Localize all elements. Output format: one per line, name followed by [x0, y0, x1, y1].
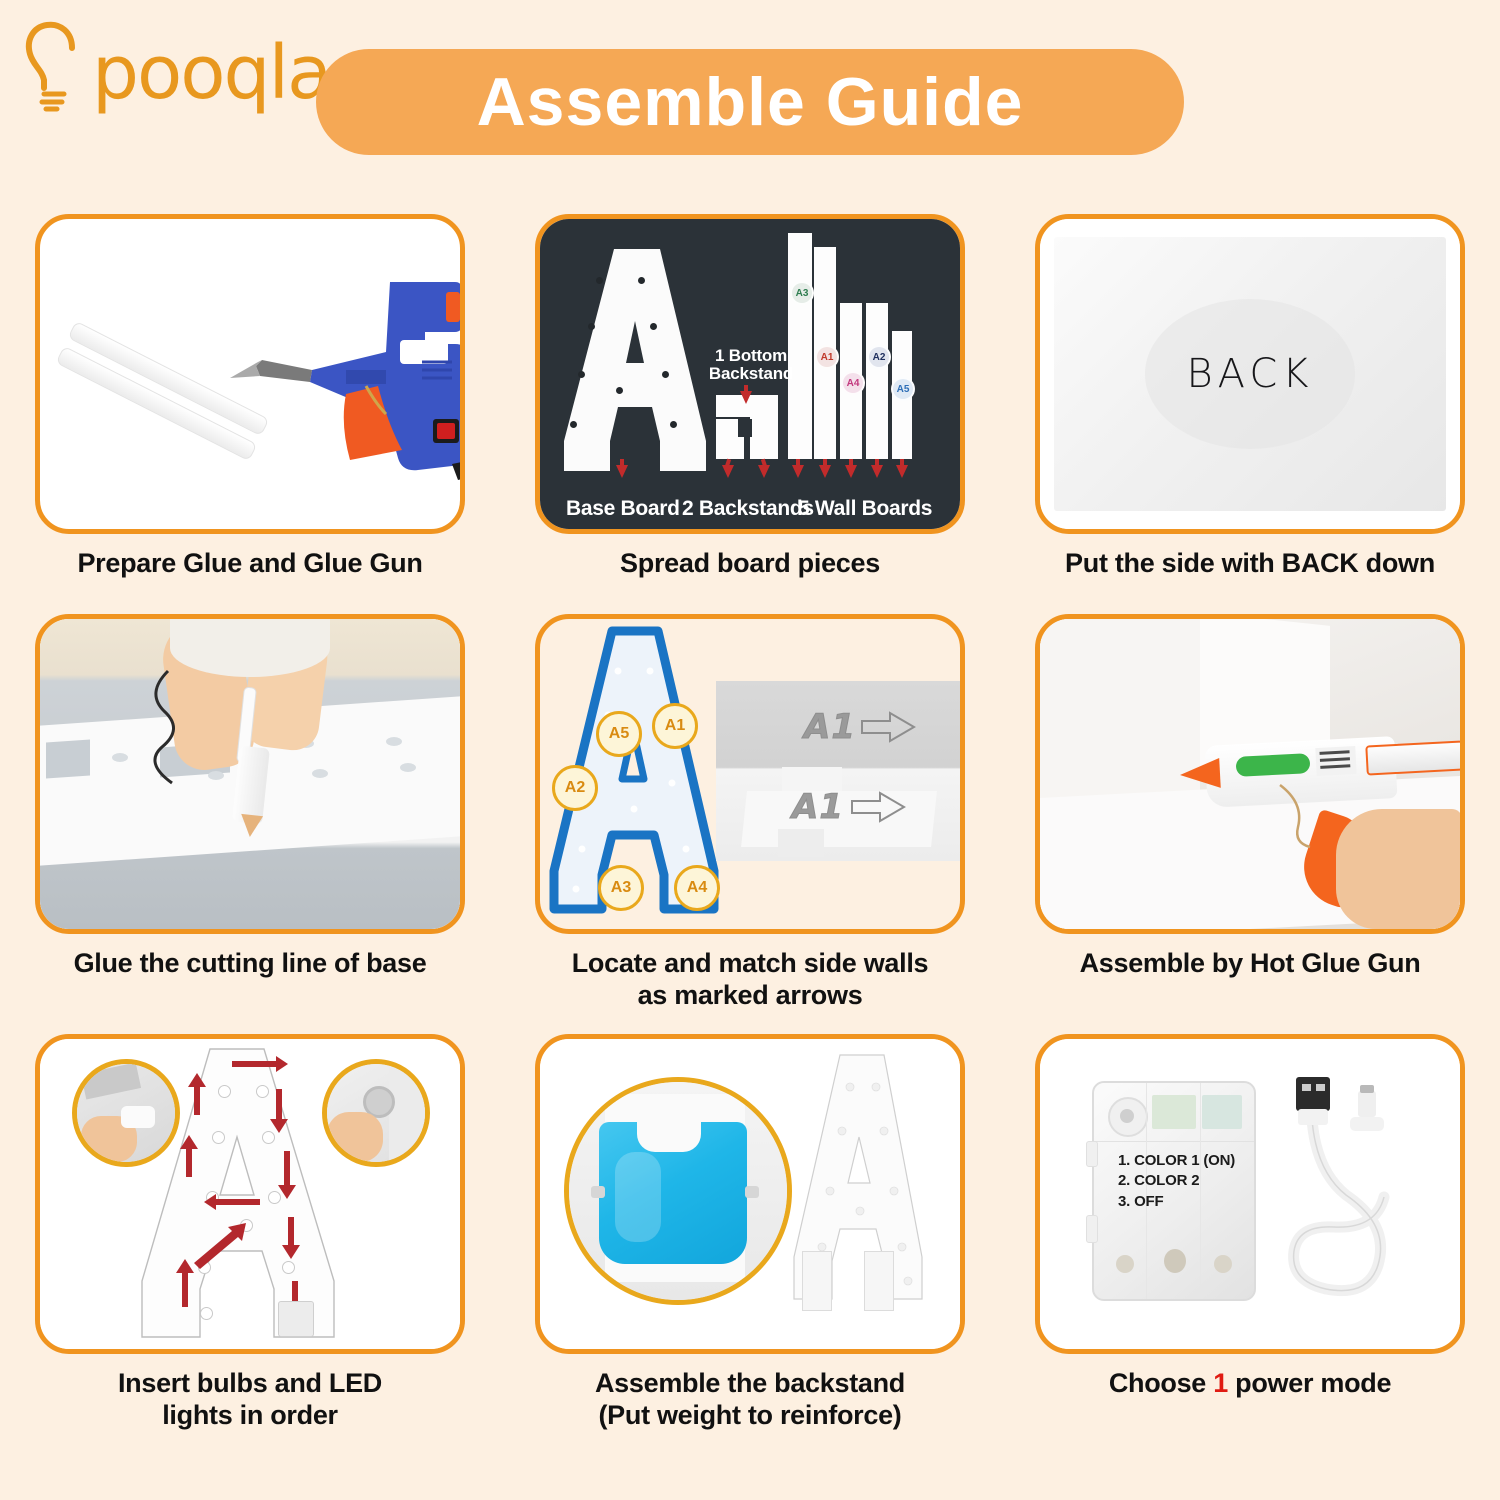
wall-board-a2 [866, 303, 888, 459]
power-mode-1: 1. COLOR 1 (ON) [1118, 1151, 1235, 1171]
power-mode-list: 1. COLOR 1 (ON) 2. COLOR 2 3. OFF [1118, 1151, 1235, 1212]
badge-a2: A2 [867, 345, 891, 369]
glue-nozzle [239, 814, 263, 838]
backstand-piece [750, 411, 778, 459]
letter-badge-a3: A3 [598, 865, 644, 911]
step-6-caption: Assemble by Hot Glue Gun [1015, 948, 1485, 980]
backstand-leg [864, 1251, 894, 1311]
switch-knob [1108, 1097, 1148, 1137]
step-9-image: 1. COLOR 1 (ON) 2. COLOR 2 3. OFF [1035, 1034, 1465, 1354]
step-3-caption: Put the side with BACK down [1015, 548, 1485, 580]
badge-a5: A5 [891, 377, 915, 401]
arrow-right-icon [860, 711, 920, 745]
label-5-wall-boards: 5 Wall Boards [798, 497, 932, 521]
gluing-base-photo [40, 619, 460, 929]
step-4-caption: Glue the cutting line of base [15, 948, 485, 980]
label-base-board: Base Board [566, 497, 680, 521]
inset-photo-weight-bag [564, 1077, 792, 1305]
page-title: Assemble Guide [477, 68, 1024, 136]
lightbulb-icon [22, 18, 98, 122]
wall-arrow-photo: A1 A1 [716, 681, 962, 861]
step-9-caption-prefix: Choose [1109, 1368, 1213, 1398]
wall-arrow-label-1: A1 [804, 707, 856, 747]
step-5-image: A5 A1 A2 A3 A4 A1 A1 [535, 614, 965, 934]
step-8-image [535, 1034, 965, 1354]
led-holder [278, 1301, 314, 1337]
wall-board-a3 [788, 233, 812, 459]
step-card-7: Insert bulbs and LED lights in order [0, 1020, 500, 1440]
label-2-backstands: 2 Backstands [682, 497, 814, 521]
battery-box-and-usb: 1. COLOR 1 (ON) 2. COLOR 2 3. OFF [1040, 1039, 1460, 1349]
backstand-leg [802, 1251, 832, 1311]
glue-gun-scene [40, 219, 460, 529]
page-header: pooqla Assemble Guide [0, 0, 1500, 190]
badge-a3: A3 [790, 281, 814, 305]
step-9-caption-number: 1 [1213, 1368, 1228, 1398]
step-1-caption: Prepare Glue and Glue Gun [15, 548, 485, 580]
hot-glue-gun-photo [1040, 619, 1460, 929]
step-card-1: Prepare Glue and Glue Gun [0, 200, 500, 600]
step-7-caption: Insert bulbs and LED lights in order [15, 1368, 485, 1432]
hand [1336, 809, 1462, 929]
letter-badge-a5: A5 [596, 711, 642, 757]
step-2-image: A3 A1 A4 A2 A5 1 Bottom Backstand [535, 214, 965, 534]
step-3-image: BACK [1035, 214, 1465, 534]
water-weight-bag [599, 1122, 747, 1264]
white-board: BACK [1054, 237, 1446, 511]
step-5-caption: Locate and match side walls as marked ar… [515, 948, 985, 1012]
wall-arrow-label-2: A1 [792, 787, 844, 827]
letter-badge-a2: A2 [552, 765, 598, 811]
step-4-image [35, 614, 465, 934]
steps-grid: Prepare Glue and Glue Gun [0, 200, 1500, 1440]
callout-arrow-head [740, 391, 752, 404]
back-board-photo: BACK [1040, 219, 1460, 529]
step-2-caption: Spread board pieces [515, 548, 985, 580]
page-title-banner: Assemble Guide [316, 49, 1184, 155]
gun-label [1236, 753, 1311, 777]
glue-stick-icon [1365, 740, 1464, 775]
step-card-3: BACK Put the side with BACK down [1000, 200, 1500, 600]
power-mode-2: 2. COLOR 2 [1118, 1171, 1235, 1191]
step-8-caption: Assemble the backstand (Put weight to re… [515, 1368, 985, 1432]
letter-badge-a1: A1 [652, 703, 698, 749]
step-card-4: Glue the cutting line of base [0, 600, 500, 1020]
back-label: BACK [1186, 351, 1313, 397]
glue-nozzle [1179, 758, 1221, 790]
badge-a1: A1 [815, 345, 839, 369]
battery-box: 1. COLOR 1 (ON) 2. COLOR 2 3. OFF [1092, 1081, 1256, 1301]
inset-photo-bulb-left [72, 1059, 180, 1167]
gun-wire [1276, 781, 1346, 851]
step-card-5: A5 A1 A2 A3 A4 A1 A1 Locate and match [500, 600, 1000, 1020]
step-card-6: Assemble by Hot Glue Gun [1000, 600, 1500, 1020]
step-card-2: A3 A1 A4 A2 A5 1 Bottom Backstand [500, 200, 1000, 600]
step-card-9: 1. COLOR 1 (ON) 2. COLOR 2 3. OFF [1000, 1020, 1500, 1440]
board-pieces-diagram: A3 A1 A4 A2 A5 1 Bottom Backstand [540, 219, 960, 529]
glue-gun-icon [40, 219, 460, 529]
bottom-backstand-callout: 1 Bottom Backstand [692, 347, 810, 383]
inset-photo-bulb-right [322, 1059, 430, 1167]
step-6-image [1035, 614, 1465, 934]
step-7-image [35, 1034, 465, 1354]
brand-name: pooqla [92, 36, 330, 110]
power-mode-3: 3. OFF [1118, 1192, 1235, 1212]
back-sticker: BACK [1145, 299, 1355, 449]
badge-a4: A4 [841, 371, 865, 395]
backstand-weight-photo [540, 1039, 960, 1349]
step-9-caption: Choose 1 power mode [1015, 1368, 1485, 1400]
power-cord [128, 663, 268, 793]
letter-badge-a4: A4 [674, 865, 720, 911]
step-9-caption-suffix: power mode [1228, 1368, 1391, 1398]
brand-logo: pooqla [22, 18, 330, 122]
step-1-image [35, 214, 465, 534]
usb-cable-icon [1272, 1075, 1452, 1315]
bulb-order-diagram [40, 1039, 460, 1349]
step-card-8: Assemble the backstand (Put weight to re… [500, 1020, 1000, 1440]
arrow-right-icon [850, 791, 910, 825]
